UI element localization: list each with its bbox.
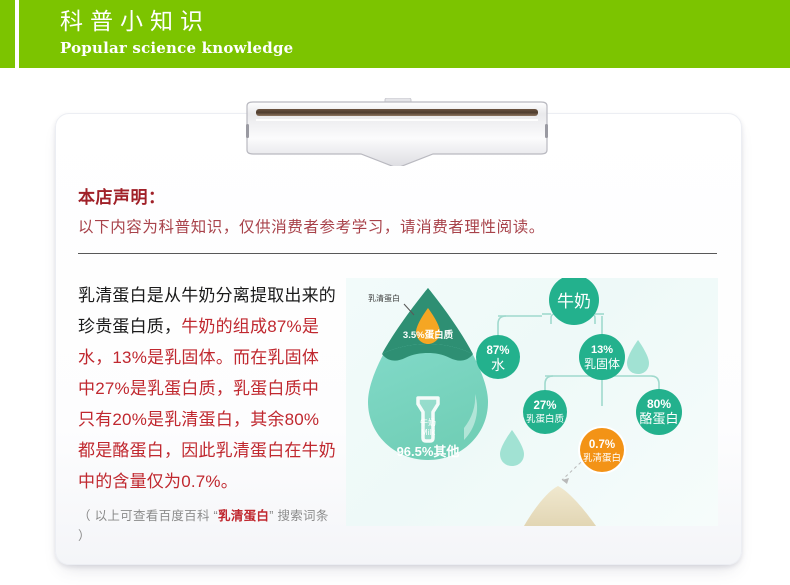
banner-text-group: 科普小知识 Popular science knowledge: [60, 7, 293, 59]
declaration-body: 以下内容为科普知识，仅供消费者参考学习，请消费者理性阅读。: [78, 213, 718, 243]
tree-node-whey: 0.7% 乳清蛋白: [578, 426, 626, 474]
article-paragraph: 乳清蛋白是从牛奶分离提取出来的珍贵蛋白质，牛奶的组成87%是水，13%是乳固体。…: [78, 280, 336, 497]
tree-node-solids: 13% 乳固体: [579, 334, 625, 380]
figure-column: 乳清蛋白 3.5%蛋白质 牛奶 Milk 96.5%其他: [346, 278, 718, 546]
article-line-1: 乳清蛋白是从牛奶分离提取出: [78, 286, 302, 305]
tree-node-milk-protein: 27% 乳蛋白质: [523, 390, 567, 434]
tree-node-water-label: 水: [491, 357, 505, 373]
banner-title-en: Popular science knowledge: [60, 37, 293, 59]
droplet-tip-label: 3.5%蛋白质: [403, 329, 454, 341]
source-note: （ 以上可查看百度百科 “乳清蛋白” 搜索词条 ）: [78, 506, 336, 546]
header-banner: 科普小知识 Popular science knowledge: [0, 0, 790, 68]
horizontal-divider: [78, 253, 717, 254]
tree-node-root-label: 牛奶: [557, 292, 591, 311]
content-area: 本店声明： 以下内容为科普知识，仅供消费者参考学习，请消费者理性阅读。 乳清蛋白…: [78, 185, 718, 546]
article-column: 乳清蛋白是从牛奶分离提取出来的珍贵蛋白质，牛奶的组成87%是水，13%是乳固体。…: [78, 278, 336, 546]
two-column-body: 乳清蛋白是从牛奶分离提取出来的珍贵蛋白质，牛奶的组成87%是水，13%是乳固体。…: [78, 278, 718, 546]
decorative-droplet-right: [627, 340, 649, 374]
banner-title-cn: 科普小知识: [60, 7, 293, 37]
article-line-2b: 牛奶的组成: [181, 317, 267, 336]
tree-node-solids-label: 乳固体: [584, 357, 620, 371]
bottle-label-en: Milk: [421, 428, 436, 437]
droplet-body-label: 96.5%其他: [397, 444, 460, 459]
tree-node-water: 87% 水: [476, 335, 520, 379]
declaration-title: 本店声明：: [78, 185, 718, 211]
tree-node-milk-protein-label: 乳蛋白质: [526, 413, 565, 425]
whey-callout-label: 乳清蛋白: [368, 293, 400, 303]
article-line-8: 为0.7%。: [164, 472, 238, 491]
source-note-keyword: 乳清蛋白: [218, 509, 269, 523]
tree-node-root: 牛奶: [549, 278, 599, 325]
banner-divider: [15, 0, 19, 68]
tree-node-casein-label: 酪蛋白: [639, 411, 678, 426]
tree-node-casein-percent: 80%: [647, 397, 671, 411]
decorative-droplet-left: [500, 430, 524, 466]
tree-node-casein: 80% 酪蛋白: [636, 389, 682, 435]
tree-node-solids-percent: 13%: [591, 344, 613, 356]
milk-droplet-graphic: 乳清蛋白 3.5%蛋白质 牛奶 Milk 96.5%其他: [368, 288, 488, 460]
tree-node-milk-protein-percent: 27%: [533, 400, 556, 412]
bottle-label-cn: 牛奶: [420, 417, 436, 427]
milk-composition-infographic: 乳清蛋白 3.5%蛋白质 牛奶 Milk 96.5%其他: [346, 278, 718, 526]
clipboard-clip-icon: [237, 98, 557, 166]
tree-node-whey-percent: 0.7%: [589, 439, 615, 451]
protein-powder-pile: [524, 486, 596, 526]
source-note-prefix: （ 以上可查看百度百科 “: [78, 509, 218, 523]
tree-node-whey-label: 乳清蛋白: [583, 452, 621, 464]
page-root: 科普小知识 Popular science knowledge: [0, 0, 790, 585]
tree-node-water-percent: 87%: [486, 345, 509, 357]
